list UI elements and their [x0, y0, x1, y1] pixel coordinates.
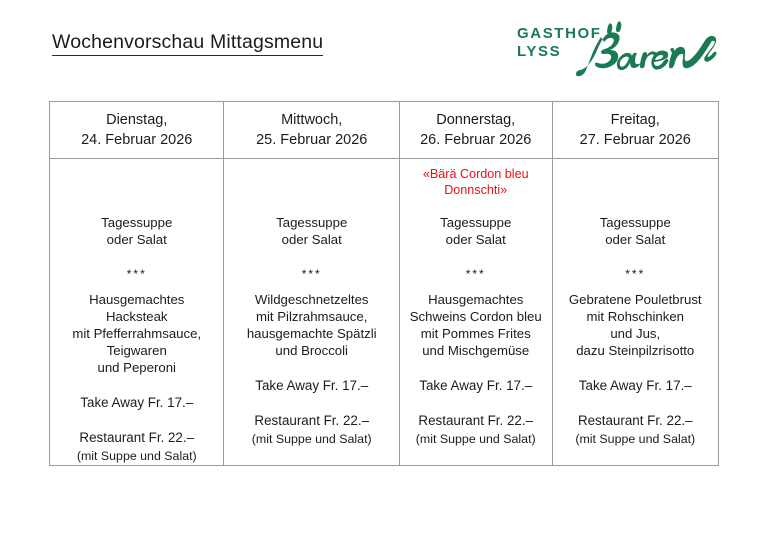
table-header-row: Dienstag, 24. Februar 2026 Mittwoch, 25.… [50, 102, 718, 159]
menu-separator: *** [302, 268, 322, 280]
menu-starter: Tagessuppeoder Salat [440, 214, 511, 248]
menu-main-dish: HausgemachtesSchweins Cordon bleumit Pom… [410, 291, 542, 359]
gasthof-lyss-baeren-logo: GASTHOF LYSS [514, 18, 719, 80]
menu-separator: *** [625, 268, 645, 280]
table-header-cell-mittwoch: Mittwoch, 25. Februar 2026 [224, 102, 399, 158]
menu-separator: *** [127, 268, 147, 280]
page-header: Wochenvorschau Mittagsmenu GASTHOF LYSS [0, 0, 768, 95]
header-day-name: Donnerstag, [436, 110, 515, 130]
menu-starter: Tagessuppeoder Salat [276, 214, 347, 248]
menu-highlight-note: «Bärä Cordon bleuDonnschti» [423, 166, 529, 198]
weekly-menu-table: Dienstag, 24. Februar 2026 Mittwoch, 25.… [49, 101, 719, 466]
menu-starter: Tagessuppeoder Salat [101, 214, 172, 248]
page-title: Wochenvorschau Mittagsmenu [52, 31, 323, 56]
price-restaurant: Restaurant Fr. 22.– [578, 412, 693, 429]
menu-main-dish: Gebratene Pouletbrustmit Rohschinkenund … [569, 291, 702, 359]
menu-separator: *** [466, 268, 486, 280]
price-takeaway: Take Away Fr. 17.– [255, 377, 368, 394]
header-date: 26. Februar 2026 [420, 130, 531, 150]
price-note: (mit Suppe und Salat) [416, 431, 536, 448]
menu-main-dish: HausgemachtesHacksteakmit Pfefferrahmsau… [72, 291, 201, 376]
table-header-cell-freitag: Freitag, 27. Februar 2026 [553, 102, 719, 158]
menu-cell-donnerstag: «Bärä Cordon bleuDonnschti» Tagessuppeod… [400, 159, 553, 465]
header-day-name: Freitag, [611, 110, 660, 130]
table-header-cell-donnerstag: Donnerstag, 26. Februar 2026 [400, 102, 553, 158]
header-day-name: Mittwoch, [281, 110, 342, 130]
header-date: 24. Februar 2026 [81, 130, 192, 150]
menu-main-dish: Wildgeschnetzeltesmit Pilzrahmsauce,haus… [247, 291, 377, 359]
price-restaurant: Restaurant Fr. 22.– [418, 412, 533, 429]
logo-script-baeren [568, 20, 720, 78]
menu-cell-freitag: Tagessuppeoder Salat *** Gebratene Poule… [553, 159, 719, 465]
header-date: 25. Februar 2026 [256, 130, 367, 150]
table-header-cell-dienstag: Dienstag, 24. Februar 2026 [50, 102, 224, 158]
menu-starter: Tagessuppeoder Salat [600, 214, 671, 248]
price-takeaway: Take Away Fr. 17.– [419, 377, 532, 394]
table-body-row: Tagessuppeoder Salat *** HausgemachtesHa… [50, 159, 718, 465]
price-restaurant: Restaurant Fr. 22.– [79, 429, 194, 446]
price-note: (mit Suppe und Salat) [575, 431, 695, 448]
menu-cell-mittwoch: Tagessuppeoder Salat *** Wildgeschnetzel… [224, 159, 399, 465]
price-restaurant: Restaurant Fr. 22.– [254, 412, 369, 429]
price-note: (mit Suppe und Salat) [252, 431, 372, 448]
header-day-name: Dienstag, [106, 110, 167, 130]
menu-cell-dienstag: Tagessuppeoder Salat *** HausgemachtesHa… [50, 159, 224, 465]
header-date: 27. Februar 2026 [580, 130, 691, 150]
price-takeaway: Take Away Fr. 17.– [80, 394, 193, 411]
price-note: (mit Suppe und Salat) [77, 448, 197, 465]
price-takeaway: Take Away Fr. 17.– [579, 377, 692, 394]
